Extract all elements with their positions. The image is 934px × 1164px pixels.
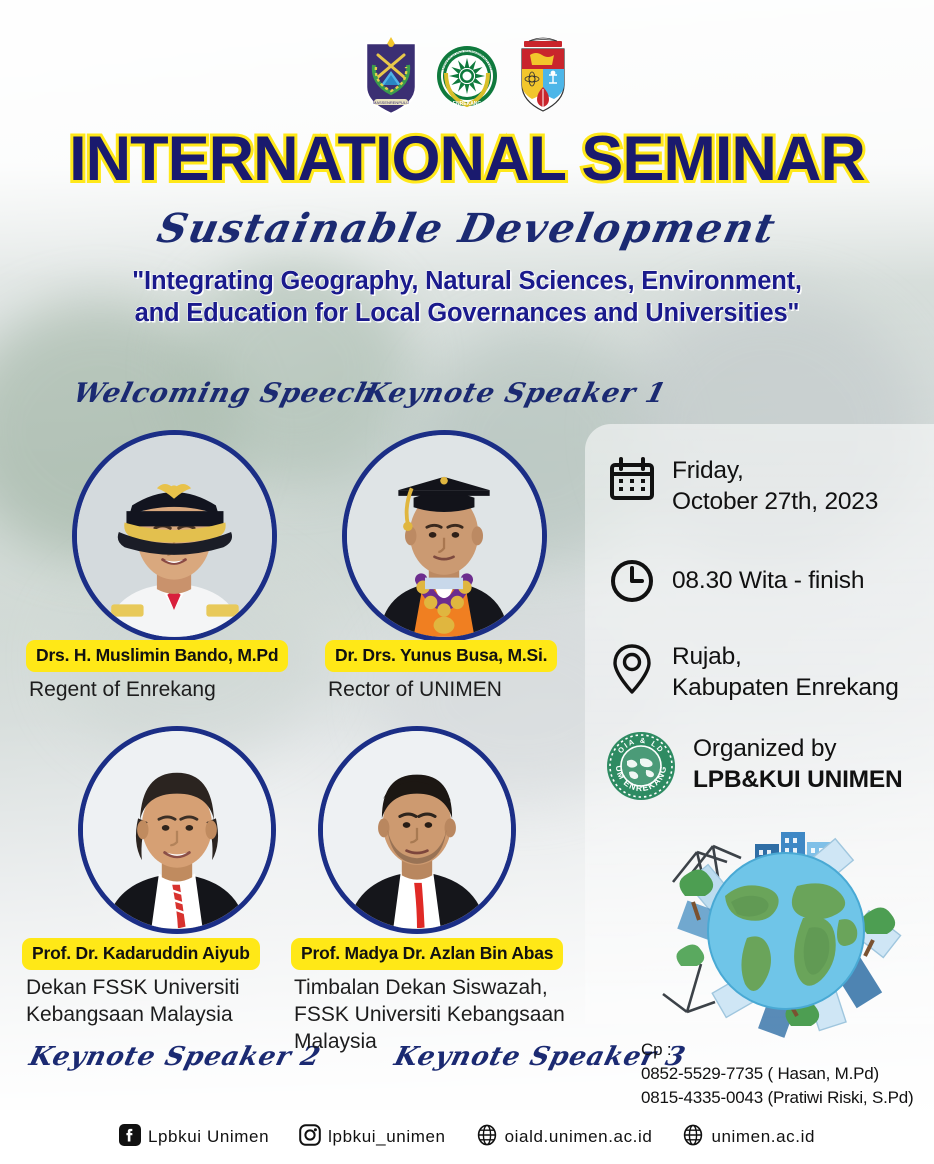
script-label-keynote-speaker-2: Keynote Speaker 2 (26, 1042, 324, 1072)
speaker-role-3-line2: Kebangsaan Malaysia (26, 1002, 291, 1029)
event-date-text: Friday, October 27th, 2023 (672, 456, 878, 518)
event-venue-row: Rujab, Kabupaten Enrekang (608, 642, 899, 704)
speaker-photo-3 (78, 726, 276, 934)
seminar-poster: MASSENRENPULU (0, 0, 934, 1164)
contact-phone-1: 0852-5529-7735 ( Hasan, M.Pd) (641, 1062, 914, 1086)
footer-item-facebook[interactable]: Lpbkui Unimen (119, 1124, 269, 1151)
speaker-name-badge-3: Prof. Dr. Kadaruddin Aiyub (22, 938, 260, 970)
contact-phone-2: 0815-4335-0043 (Pratiwi Riski, S.Pd) (641, 1086, 914, 1110)
universitas-muhammadiyah-enrekang-logo: UNIVERSITAS MUHAMMADIYAH ENREKANG (436, 35, 498, 117)
event-venue-text: Rujab, Kabupaten Enrekang (672, 642, 899, 704)
organizer-line1: Organized by (693, 734, 903, 765)
speaker-photo-4 (318, 726, 516, 934)
script-subtitle: Sustainable Development (0, 205, 934, 252)
svg-text:MASSENRENPULU: MASSENRENPULU (373, 100, 409, 105)
speaker-role-3: Dekan FSSK Universiti Kebangsaan Malaysi… (26, 975, 291, 1029)
page-title: INTERNATIONAL SEMINAR (0, 128, 934, 191)
organizer-line2: LPB&KUI UNIMEN (693, 765, 903, 796)
facebook-icon (119, 1124, 141, 1151)
event-date-row: Friday, October 27th, 2023 (608, 456, 878, 518)
event-date-line1: Friday, (672, 456, 878, 487)
footer-facebook-text: Lpbkui Unimen (148, 1127, 269, 1147)
location-pin-icon (608, 642, 656, 701)
speaker-name-badge-2: Dr. Drs. Yunus Busa, M.Si. (325, 640, 557, 672)
globe-icon (682, 1124, 704, 1151)
organizer-text: Organized by LPB&KUI UNIMEN (693, 730, 903, 796)
script-label-welcoming-speech: Welcoming Speech (70, 378, 379, 409)
speaker-role-3-line1: Dekan FSSK Universiti (26, 975, 291, 1002)
speaker-role-1: Regent of Enrekang (29, 677, 216, 704)
enrekang-regency-logo: MASSENRENPULU (360, 35, 422, 117)
event-date-line2: October 27th, 2023 (672, 487, 878, 518)
script-label-keynote-speaker-1: Keynote Speaker 1 (361, 378, 670, 409)
event-venue-line1: Rujab, (672, 642, 899, 673)
calendar-icon (608, 456, 656, 509)
organizer-row: OIA & LD UM ENREKANG Organized by LPB&KU… (605, 730, 903, 807)
title-block: INTERNATIONAL SEMINAR Sustainable Develo… (0, 128, 934, 329)
seminar-theme-line2: and Education for Local Governances and … (0, 298, 934, 330)
footer-bar: Lpbkui Unimen lpbkui_unimen oiald.un (0, 1110, 934, 1164)
speaker-photo-1 (72, 430, 277, 642)
footer-website-oiald-text: oiald.unimen.ac.id (505, 1127, 653, 1147)
instagram-icon (299, 1124, 321, 1151)
seminar-theme: "Integrating Geography, Natural Sciences… (0, 266, 934, 329)
event-venue-line2: Kabupaten Enrekang (672, 673, 899, 704)
event-time-text: 08.30 Wita - finish (672, 557, 864, 597)
speaker-role-4-line2: FSSK Universiti Kebangsaan (294, 1002, 594, 1029)
logo-row: MASSENRENPULU (0, 28, 934, 124)
clock-icon (608, 557, 656, 610)
speaker-role-2: Rector of UNIMEN (328, 677, 502, 704)
speaker-photo-2 (342, 430, 547, 642)
speaker-name-badge-4: Prof. Madya Dr. Azlan Bin Abas (291, 938, 563, 970)
footer-item-instagram[interactable]: lpbkui_unimen (299, 1124, 445, 1151)
footer-item-website-unimen[interactable]: unimen.ac.id (682, 1124, 815, 1151)
contact-block: Cp : 0852-5529-7735 ( Hasan, M.Pd) 0815-… (641, 1038, 914, 1110)
svg-text:ENREKANG: ENREKANG (453, 101, 482, 107)
footer-website-unimen-text: unimen.ac.id (711, 1127, 815, 1147)
oia-ld-seal-icon: OIA & LD UM ENREKANG (605, 730, 677, 807)
contact-label: Cp : (641, 1038, 914, 1062)
event-time-row: 08.30 Wita - finish (608, 557, 864, 610)
speaker-role-4-line1: Timbalan Dekan Siswazah, (294, 975, 594, 1002)
speaker-name-badge-1: Drs. H. Muslimin Bando, M.Pd (26, 640, 288, 672)
globe-icon (476, 1124, 498, 1151)
seminar-theme-line1: "Integrating Geography, Natural Sciences… (0, 266, 934, 298)
ukm-malaysia-logo (512, 35, 574, 117)
footer-instagram-text: lpbkui_unimen (328, 1127, 445, 1147)
sustainable-globe-illustration (651, 816, 921, 1046)
footer-item-website-oiald[interactable]: oiald.unimen.ac.id (476, 1124, 653, 1151)
